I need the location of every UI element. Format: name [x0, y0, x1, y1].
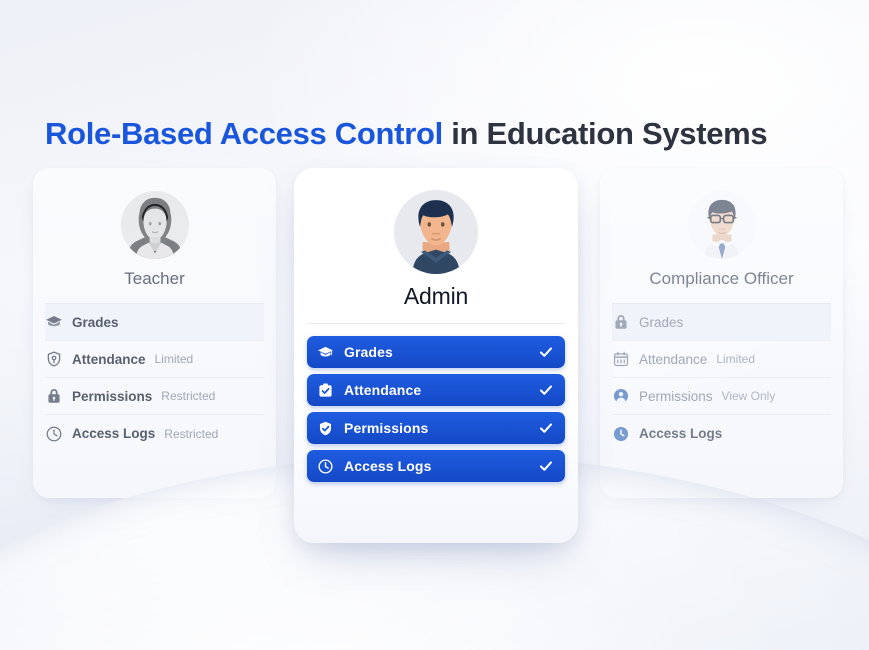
- permission-row-grades[interactable]: Grades: [45, 304, 264, 341]
- check-icon: [538, 382, 554, 398]
- calendar-icon: [612, 350, 630, 368]
- permission-label: Access Logs: [344, 458, 528, 474]
- permission-note: Limited: [716, 352, 755, 366]
- role-name: Admin: [294, 283, 578, 310]
- permission-pill-attendance[interactable]: Attendance: [307, 374, 565, 406]
- clock-filled-icon: [612, 425, 630, 443]
- page-title: Role-Based Access Control in Education S…: [45, 116, 767, 152]
- permission-label: Permissions: [639, 389, 713, 404]
- permission-label: Access Logs: [639, 426, 722, 441]
- permission-label: Grades: [639, 315, 683, 330]
- avatar: [121, 191, 189, 259]
- lock-icon: [612, 313, 630, 331]
- permission-note: Limited: [155, 352, 194, 366]
- avatar-wrap: [33, 168, 276, 259]
- female-avatar-icon: [121, 191, 189, 259]
- permission-pill-permissions[interactable]: Permissions: [307, 412, 565, 444]
- permission-list: Grades Attendance Limited: [600, 304, 843, 452]
- permission-row-attendance[interactable]: Attendance Limited: [612, 341, 831, 378]
- page-title-plain: in Education Systems: [443, 116, 767, 151]
- permission-label: Attendance: [344, 382, 528, 398]
- avatar-wrap: [600, 168, 843, 259]
- lock-icon: [45, 387, 63, 405]
- shield-check-icon: [45, 350, 63, 368]
- permission-label: Attendance: [639, 352, 707, 367]
- clock-icon: [45, 425, 63, 443]
- male-avatar-icon: [394, 190, 478, 274]
- permission-label: Grades: [72, 315, 119, 330]
- check-icon: [538, 458, 554, 474]
- check-icon: [538, 344, 554, 360]
- permission-list: Grades Attendance Limited: [33, 304, 276, 452]
- page-title-accent: Role-Based Access Control: [45, 116, 443, 151]
- role-card-admin[interactable]: Admin Grades: [294, 168, 578, 543]
- poster-canvas: Role-Based Access Control in Education S…: [0, 0, 869, 650]
- permission-row-access-logs[interactable]: Access Logs: [612, 415, 831, 452]
- graduation-cap-icon: [317, 344, 334, 361]
- avatar-wrap: [294, 168, 578, 274]
- user-badge-icon: [612, 387, 630, 405]
- permission-note: View Only: [722, 389, 776, 403]
- shield-check-icon: [317, 420, 334, 437]
- permission-pill-access-logs[interactable]: Access Logs: [307, 450, 565, 482]
- permission-list: Grades Attendance: [294, 324, 578, 482]
- permission-note: Restricted: [161, 389, 215, 403]
- avatar: [394, 190, 478, 274]
- permission-label: Attendance: [72, 352, 146, 367]
- check-icon: [538, 420, 554, 436]
- permission-row-access-logs[interactable]: Access Logs Restricted: [45, 415, 264, 452]
- permission-label: Access Logs: [72, 426, 155, 441]
- permission-row-permissions[interactable]: Permissions Restricted: [45, 378, 264, 415]
- clipboard-check-icon: [317, 382, 334, 399]
- permission-row-permissions[interactable]: Permissions View Only: [612, 378, 831, 415]
- permission-label: Permissions: [72, 389, 152, 404]
- role-card-teacher[interactable]: Teacher Grades: [33, 168, 276, 498]
- permission-label: Grades: [344, 344, 528, 360]
- clock-icon: [317, 458, 334, 475]
- role-name: Teacher: [33, 269, 276, 289]
- role-name: Compliance Officer: [600, 269, 843, 289]
- permission-row-attendance[interactable]: Attendance Limited: [45, 341, 264, 378]
- permission-label: Permissions: [344, 420, 528, 436]
- graduation-cap-icon: [45, 313, 63, 331]
- role-card-compliance-officer[interactable]: Compliance Officer Grades: [600, 168, 843, 498]
- permission-row-grades[interactable]: Grades: [612, 304, 831, 341]
- permission-note: Restricted: [164, 427, 218, 441]
- permission-pill-grades[interactable]: Grades: [307, 336, 565, 368]
- male-glasses-avatar-icon: [688, 191, 756, 259]
- avatar: [688, 191, 756, 259]
